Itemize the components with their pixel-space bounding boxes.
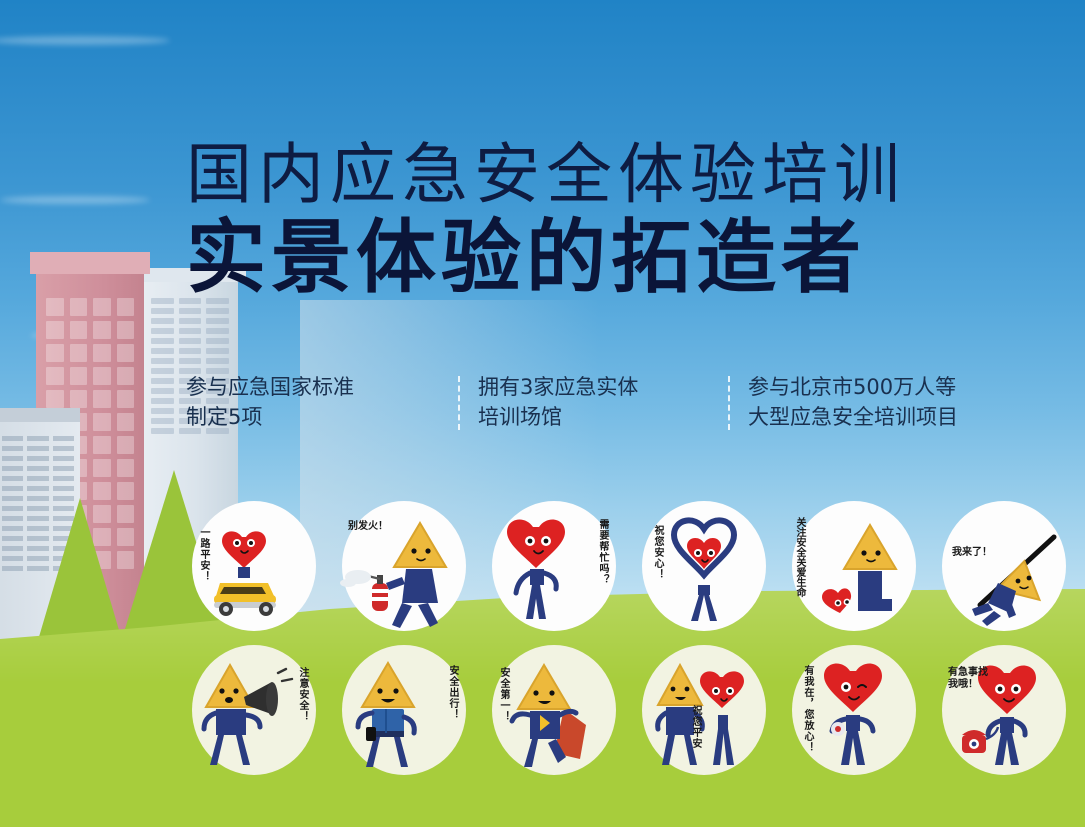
sticker-caption: 我来了！: [952, 547, 992, 559]
sticker-caption: 安全出行！: [447, 665, 458, 720]
headline-line-1: 国内应急安全体验培训: [186, 138, 1016, 212]
sticker-heart-telephone[interactable]: 有急事找我哦！: [936, 643, 1072, 777]
sticker-heart-in-heart-frame[interactable]: 祝您安心！: [636, 499, 772, 633]
sticker-caption: 需要帮忙吗？: [597, 519, 608, 585]
sticker-row-top: 一路平安！: [186, 499, 1085, 633]
triangle-with-heart-icon: [786, 499, 922, 633]
sticker-caption: 安全第一！: [498, 667, 509, 722]
page-title: 国内应急安全体验培训 实景体验的拓造者: [186, 138, 1016, 302]
sticker-triangle-fire-extinguisher[interactable]: 别发火！: [336, 499, 472, 633]
sticker-caption: 关注安全关爱生命: [794, 517, 805, 597]
feature-text: 大型应急安全培训项目: [748, 402, 982, 432]
sticker-triangle-superhero[interactable]: 安全第一！: [486, 643, 622, 777]
sticker-heart-offering-help[interactable]: 需要帮忙吗？: [486, 499, 622, 633]
triangle-and-heart-icon: [636, 643, 772, 777]
sticker-caption: 别发火！: [348, 521, 388, 533]
feature-text: 参与应急国家标准: [186, 372, 442, 402]
heart-telephone-icon: [936, 643, 1072, 777]
triangle-running-icon: [936, 499, 1072, 633]
sticker-caption: 注意安全！: [297, 667, 308, 722]
sticker-caption: 有急事找我哦！: [948, 667, 994, 691]
sticker-triangle-traffic[interactable]: 安全出行！: [336, 643, 472, 777]
feature-columns: 参与应急国家标准 制定5项 拥有3家应急实体 培训场馆 参与北京市500万人等 …: [186, 372, 1018, 432]
sticker-heart-driving-car[interactable]: 一路平安！: [186, 499, 322, 633]
feature-column-3: 参与北京市500万人等 大型应急安全培训项目: [726, 372, 996, 432]
sticker-triangle-and-heart[interactable]: 祝您平安: [636, 643, 772, 777]
feature-text: 参与北京市500万人等: [748, 372, 982, 402]
sticker-heart-winking[interactable]: 有我在，您放心！: [786, 643, 922, 777]
feature-column-2: 拥有3家应急实体 培训场馆: [456, 372, 726, 432]
sticker-caption: 祝您安心！: [652, 525, 663, 580]
feature-column-1: 参与应急国家标准 制定5项: [186, 372, 456, 432]
feature-text: 培训场馆: [478, 402, 712, 432]
sticker-caption: 祝您平安: [690, 705, 701, 749]
sticker-triangle-megaphone[interactable]: 注意安全！: [186, 643, 322, 777]
feature-text: 拥有3家应急实体: [478, 372, 712, 402]
sticker-triangle-running[interactable]: 我来了！: [936, 499, 1072, 633]
triangle-fire-extinguisher-icon: [336, 499, 472, 633]
sticker-caption: 有我在，您放心！: [802, 665, 813, 753]
sticker-row-bottom: 注意安全！ 安全出行！: [186, 643, 1085, 777]
poster-canvas: 国内应急安全体验培训 实景体验的拓造者 参与应急国家标准 制定5项 拥有3家应急…: [0, 0, 1085, 827]
sticker-caption: 一路平安！: [198, 527, 209, 582]
sticker-triangle-with-heart[interactable]: 关注安全关爱生命: [786, 499, 922, 633]
headline-line-2: 实景体验的拓造者: [186, 214, 1016, 302]
feature-text: 制定5项: [186, 402, 442, 432]
